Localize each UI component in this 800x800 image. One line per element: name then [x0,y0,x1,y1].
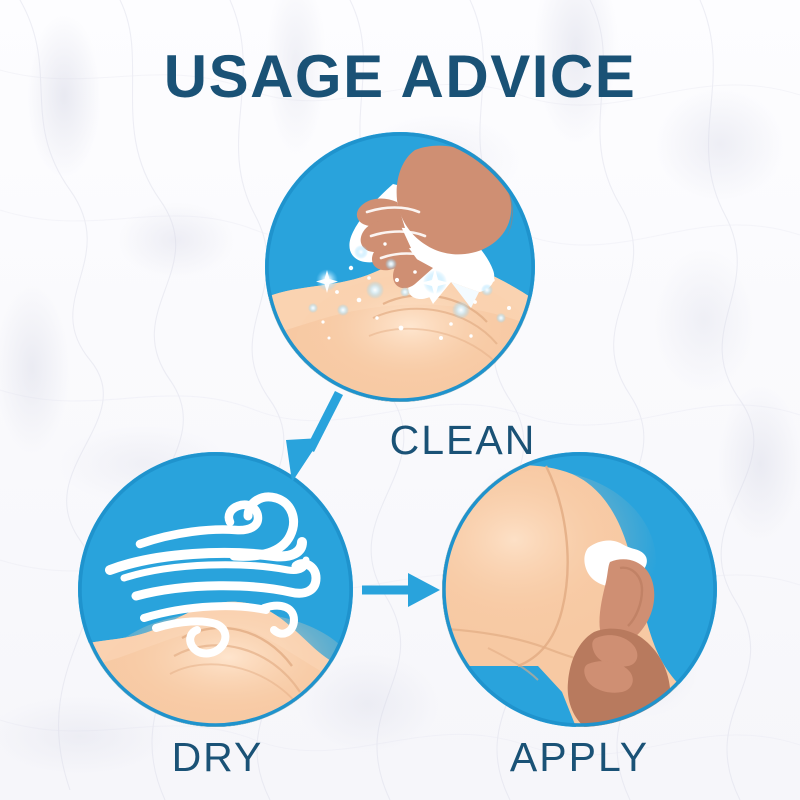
step-apply[interactable]: APPLY [442,452,717,727]
step-apply-circle[interactable] [442,452,717,727]
hand-with-wipe-cleaning-skin-icon [265,132,535,402]
step-clean-circle[interactable] [265,132,535,402]
usage-advice-infographic: USAGE ADVICE [0,0,800,800]
page-title: USAGE ADVICE [0,47,800,107]
step-dry-label: DRY [80,737,355,778]
finger-applying-cream-icon [442,452,717,727]
step-apply-label: APPLY [442,737,717,778]
step-clean[interactable]: CLEAN [265,132,535,402]
step-dry[interactable]: DRY [78,452,353,727]
wind-blowing-over-skin-icon [78,452,353,727]
step-dry-circle[interactable] [78,452,353,727]
